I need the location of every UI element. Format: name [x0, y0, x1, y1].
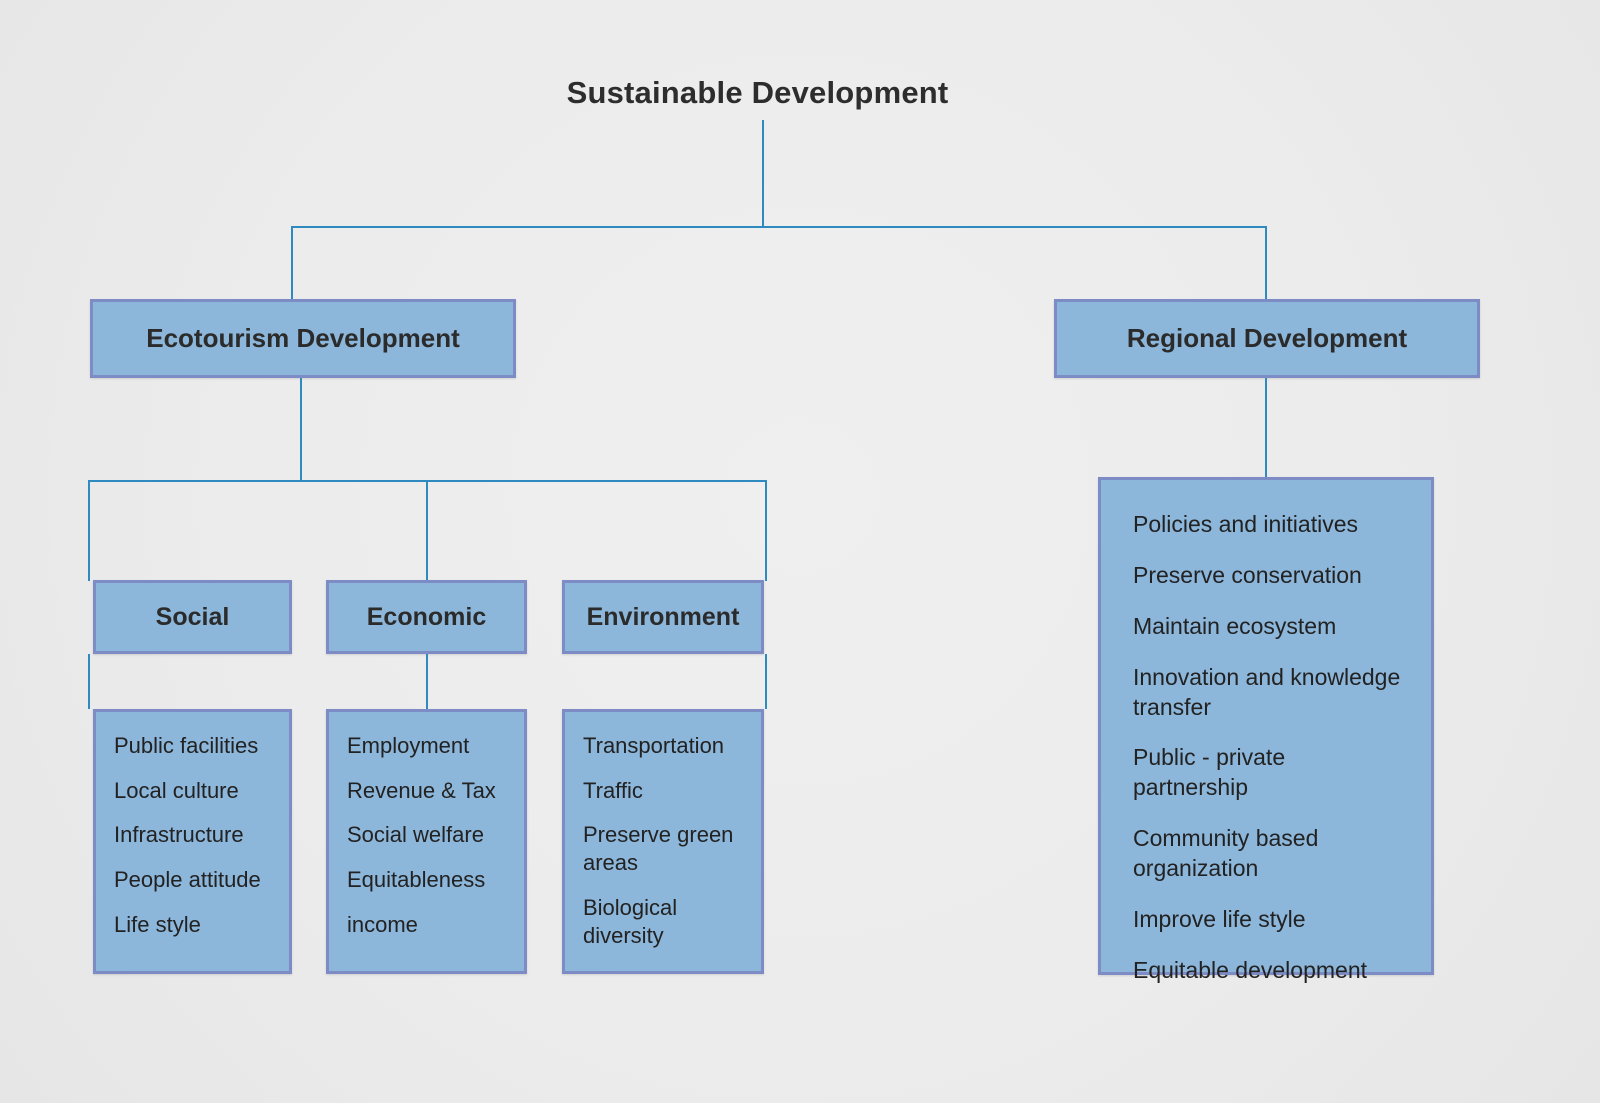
list-economic-items[interactable]: Employment Revenue & Tax Social welfare … [326, 709, 527, 974]
list-item: Public facilities [114, 732, 271, 760]
list-item: Preserve conservation [1133, 561, 1403, 591]
list-item: Community based organization [1133, 824, 1403, 884]
list-item: Maintain ecosystem [1133, 612, 1403, 642]
list-item: Equitableness [347, 866, 506, 894]
node-economic-label: Economic [367, 603, 486, 632]
node-ecotourism-development[interactable]: Ecotourism Development [90, 299, 516, 378]
connector-root-stem [762, 120, 764, 227]
list-item: Traffic [583, 777, 743, 805]
connector-environment-to-items [765, 654, 767, 709]
node-environment[interactable]: Environment [562, 580, 764, 654]
list-social-items[interactable]: Public facilities Local culture Infrastr… [93, 709, 292, 974]
list-item: Improve life style [1133, 905, 1403, 935]
node-ecotourism-development-label: Ecotourism Development [146, 323, 460, 354]
connector-bus-to-social [88, 480, 90, 581]
connector-social-to-items [88, 654, 90, 709]
list-item: Biological diversity [583, 894, 743, 949]
connector-regional-to-items [1265, 378, 1267, 478]
node-economic[interactable]: Economic [326, 580, 527, 654]
diagram-canvas: Sustainable Development Ecotourism Devel… [0, 0, 1600, 1103]
root-node-title: Sustainable Development [0, 75, 1515, 111]
connector-economic-to-items [426, 654, 428, 709]
list-regional-items[interactable]: Policies and initiatives Preserve conser… [1098, 477, 1434, 975]
node-regional-development-label: Regional Development [1127, 323, 1407, 354]
connector-root-to-ecotourism [291, 226, 293, 300]
connector-root-bus [291, 226, 1267, 228]
list-item: Equitable development [1133, 956, 1403, 986]
list-item: Infrastructure [114, 821, 271, 849]
list-item: Life style [114, 911, 271, 939]
node-environment-label: Environment [587, 603, 740, 632]
list-item: Innovation and knowledge transfer [1133, 663, 1403, 723]
list-item: Revenue & Tax [347, 777, 506, 805]
list-item: Transportation [583, 732, 743, 760]
list-item: Employment [347, 732, 506, 760]
connector-root-to-regional [1265, 226, 1267, 300]
node-social[interactable]: Social [93, 580, 292, 654]
connector-bus-to-environment [765, 480, 767, 581]
list-item: Policies and initiatives [1133, 510, 1403, 540]
node-regional-development[interactable]: Regional Development [1054, 299, 1480, 378]
list-item: Public - private partnership [1133, 743, 1403, 803]
list-item: income [347, 911, 506, 939]
list-item: Local culture [114, 777, 271, 805]
list-item: Preserve green areas [583, 821, 743, 876]
connector-bus-to-economic [426, 480, 428, 581]
list-item: People attitude [114, 866, 271, 894]
connector-ecotourism-stem [300, 378, 302, 481]
list-environment-items[interactable]: Transportation Traffic Preserve green ar… [562, 709, 764, 974]
list-item: Social welfare [347, 821, 506, 849]
node-social-label: Social [156, 603, 230, 632]
